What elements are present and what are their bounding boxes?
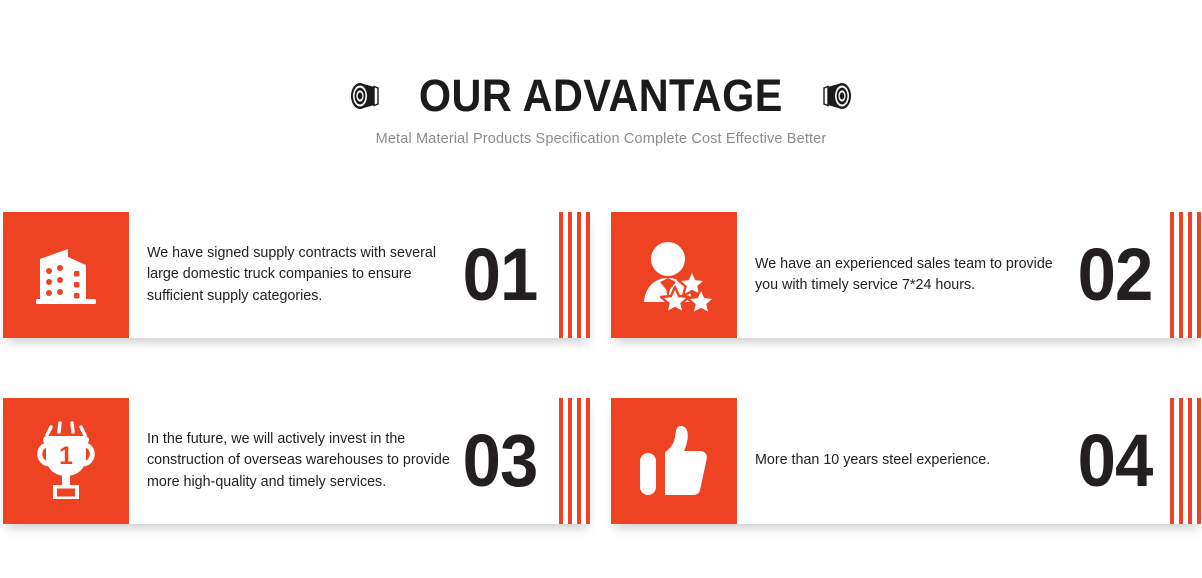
stripe <box>1170 212 1174 338</box>
svg-text:1: 1 <box>59 442 73 470</box>
card-number: 01 <box>462 238 537 312</box>
card-text: In the future, we will actively invest i… <box>129 429 471 494</box>
thumbs-up-icon <box>636 422 712 500</box>
stripe <box>568 398 572 524</box>
card-text: We have an experienced sales team to pro… <box>737 254 1079 297</box>
stripe-decoration <box>1168 398 1202 524</box>
metal-coil-icon-glyph <box>817 79 855 113</box>
card-text: We have signed supply contracts with sev… <box>129 243 471 308</box>
metal-coil-icon <box>347 79 385 113</box>
stripe <box>1197 212 1201 338</box>
card-number: 04 <box>1077 424 1152 498</box>
page-subtitle: Metal Material Products Specification Co… <box>0 131 1202 147</box>
metal-coil-icon-glyph <box>347 79 385 113</box>
stripe <box>559 398 563 524</box>
stripe <box>1179 212 1183 338</box>
stripe <box>586 212 590 338</box>
advantage-card-01[interactable]: We have signed supply contracts with sev… <box>3 212 591 338</box>
advantage-card-04[interactable]: More than 10 years steel experience. 04 <box>611 398 1202 524</box>
advantage-card-02[interactable]: We have an experienced sales team to pro… <box>611 212 1202 338</box>
stripe <box>577 398 581 524</box>
icon-box <box>611 398 737 524</box>
sales-person-stars-icon <box>635 236 713 314</box>
card-body: In the future, we will actively invest i… <box>129 398 591 524</box>
stripe-decoration <box>557 212 591 338</box>
stripe <box>559 212 563 338</box>
card-body: More than 10 years steel experience. 04 <box>737 398 1202 524</box>
card-text: More than 10 years steel experience. <box>737 450 994 472</box>
stripe <box>577 212 581 338</box>
card-row-1: We have signed supply contracts with sev… <box>0 212 1202 338</box>
stripe <box>1170 398 1174 524</box>
icon-box <box>611 212 737 338</box>
card-number: 03 <box>462 424 537 498</box>
stripe <box>586 398 590 524</box>
title-row: OUR ADVANTAGE <box>0 70 1202 122</box>
icon-box: 1 <box>3 398 129 524</box>
stripe <box>1188 212 1192 338</box>
page-title: OUR ADVANTAGE <box>419 70 783 122</box>
stripe <box>1188 398 1192 524</box>
metal-coil-icon <box>817 79 855 113</box>
advantage-card-03[interactable]: 1 In the future, we will actively invest… <box>3 398 591 524</box>
icon-box <box>3 212 129 338</box>
trophy-icon: 1 <box>26 421 106 501</box>
office-building-icon <box>28 237 104 313</box>
stripe <box>568 212 572 338</box>
card-body: We have an experienced sales team to pro… <box>737 212 1202 338</box>
stripe-decoration <box>557 398 591 524</box>
advantage-cards: We have signed supply contracts with sev… <box>0 212 1202 524</box>
card-body: We have signed supply contracts with sev… <box>129 212 591 338</box>
stripe <box>1179 398 1183 524</box>
stripe-decoration <box>1168 212 1202 338</box>
card-row-2: 1 In the future, we will actively invest… <box>0 398 1202 524</box>
stripe <box>1197 398 1201 524</box>
card-number: 02 <box>1077 238 1152 312</box>
